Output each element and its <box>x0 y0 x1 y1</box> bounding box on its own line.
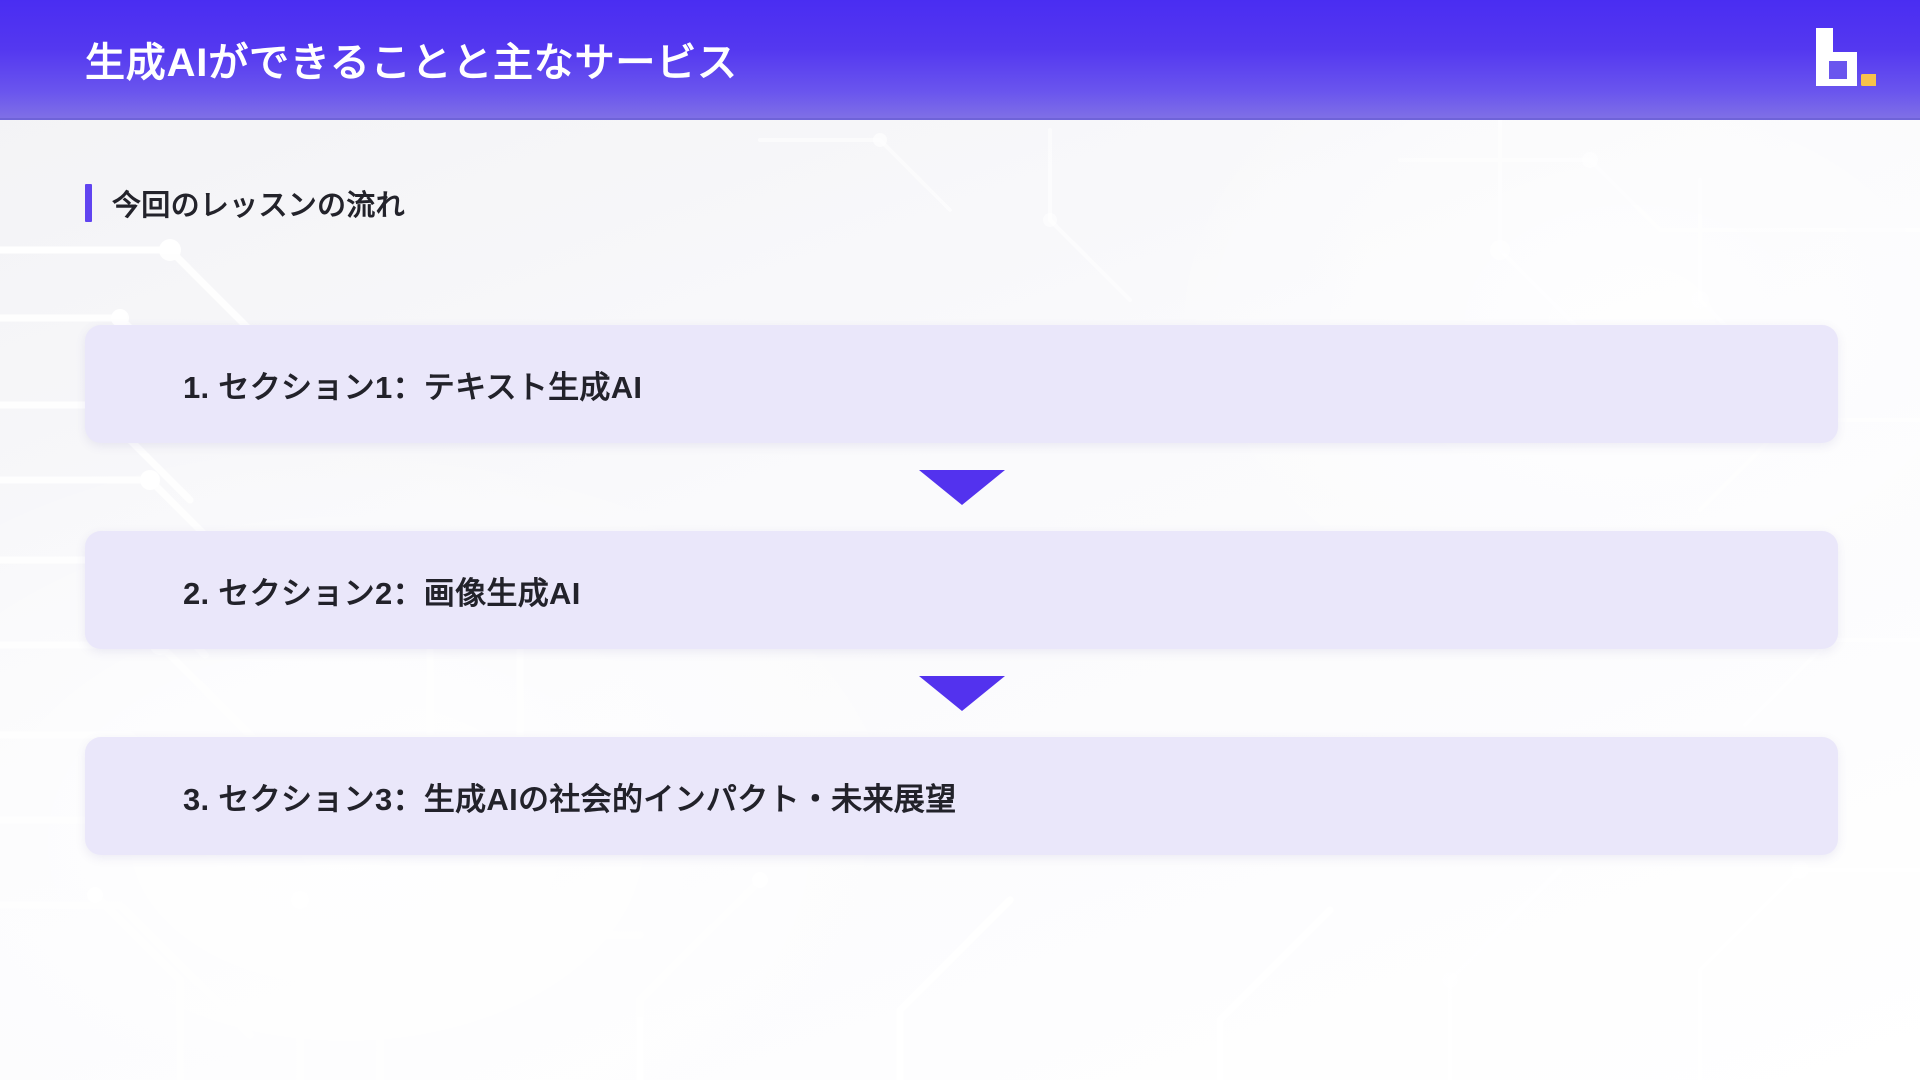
header-bar: 生成AIができることと主なサービス <box>0 0 1920 120</box>
lesson-flow-list: 1. セクション1：テキスト生成AI 2. セクション2：画像生成AI 3. セ… <box>85 325 1838 855</box>
slide-root: 生成AIができることと主なサービス 今回のレッスンの流れ 1. セクション1：テ… <box>0 0 1920 1080</box>
heading-accent-bar <box>85 184 92 222</box>
flow-connector-2 <box>85 649 1838 737</box>
arrow-down-icon <box>919 470 1005 505</box>
flow-card-label: 3. セクション3：生成AIの社会的インパクト・未来展望 <box>183 774 956 819</box>
flow-connector-1 <box>85 443 1838 531</box>
flow-card-3[interactable]: 3. セクション3：生成AIの社会的インパクト・未来展望 <box>85 737 1838 855</box>
arrow-down-icon <box>919 676 1005 711</box>
flow-card-1[interactable]: 1. セクション1：テキスト生成AI <box>85 325 1838 443</box>
page-title: 生成AIができることと主なサービス <box>85 30 738 88</box>
flow-card-label: 2. セクション2：画像生成AI <box>183 568 581 613</box>
flow-card-label: 1. セクション1：テキスト生成AI <box>183 362 642 407</box>
section-heading: 今回のレッスンの流れ <box>85 182 405 224</box>
flow-card-2[interactable]: 2. セクション2：画像生成AI <box>85 531 1838 649</box>
section-heading-label: 今回のレッスンの流れ <box>112 182 405 224</box>
b-logo-icon <box>1816 28 1876 90</box>
